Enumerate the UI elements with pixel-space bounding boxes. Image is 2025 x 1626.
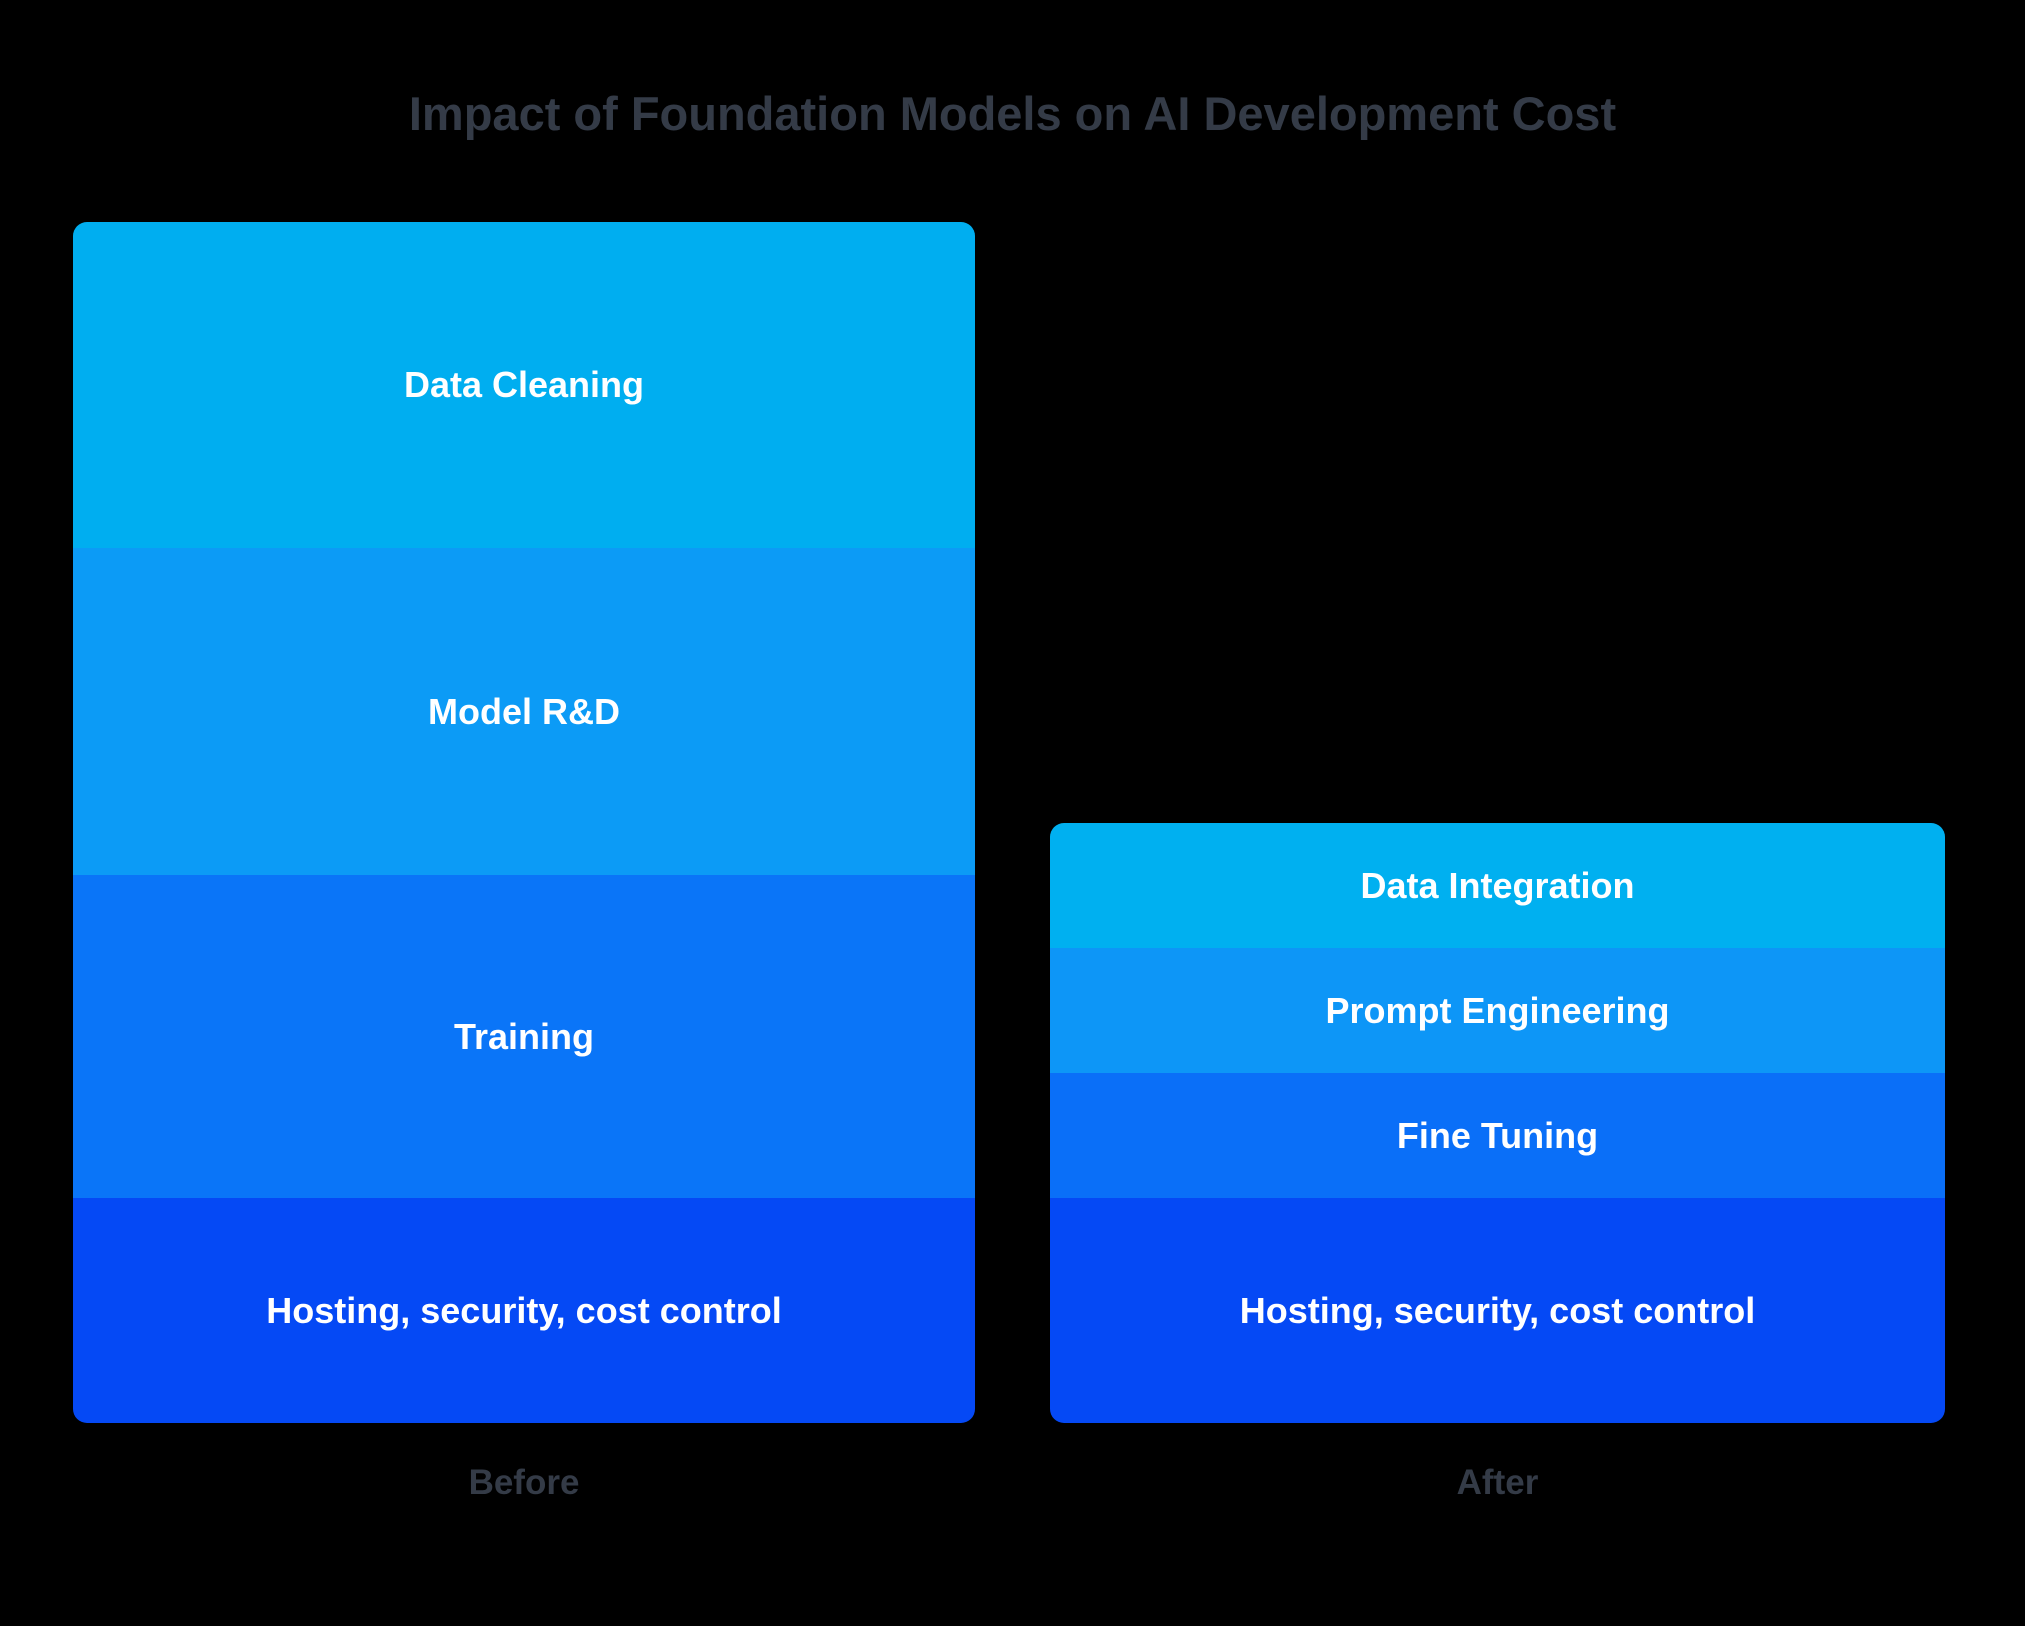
bar-segment-label: Prompt Engineering (1325, 991, 1669, 1031)
bar-segment[interactable]: Training (73, 875, 975, 1198)
bar-segment[interactable]: Hosting, security, cost control (1050, 1198, 1945, 1423)
bar-segment-label: Hosting, security, cost control (266, 1291, 781, 1331)
bar-segment[interactable]: Prompt Engineering (1050, 948, 1945, 1073)
plot-area: Data CleaningModel R&DTrainingHosting, s… (0, 0, 2025, 1626)
bar-segment[interactable]: Hosting, security, cost control (73, 1198, 975, 1423)
bar-segment[interactable]: Fine Tuning (1050, 1073, 1945, 1198)
bar-segment-label: Fine Tuning (1397, 1116, 1598, 1156)
bar-segment[interactable]: Data Integration (1050, 823, 1945, 948)
axis-label-after: After (1050, 1463, 1945, 1503)
stacked-bar-after[interactable]: Data IntegrationPrompt EngineeringFine T… (1050, 823, 1945, 1423)
bar-segment-label: Data Integration (1360, 866, 1634, 906)
bar-segment-label: Hosting, security, cost control (1240, 1291, 1755, 1331)
bar-segment-label: Model R&D (428, 692, 620, 732)
chart-canvas: Impact of Foundation Models on AI Develo… (0, 0, 2025, 1626)
bar-column-before: Data CleaningModel R&DTrainingHosting, s… (73, 0, 975, 1626)
bar-segment-label: Training (454, 1017, 594, 1057)
bar-segment-label: Data Cleaning (404, 365, 644, 405)
bar-segment[interactable]: Model R&D (73, 548, 975, 875)
stacked-bar-before[interactable]: Data CleaningModel R&DTrainingHosting, s… (73, 222, 975, 1423)
bar-column-after: Data IntegrationPrompt EngineeringFine T… (1050, 0, 1945, 1626)
bar-segment[interactable]: Data Cleaning (73, 222, 975, 548)
axis-label-before: Before (73, 1463, 975, 1503)
